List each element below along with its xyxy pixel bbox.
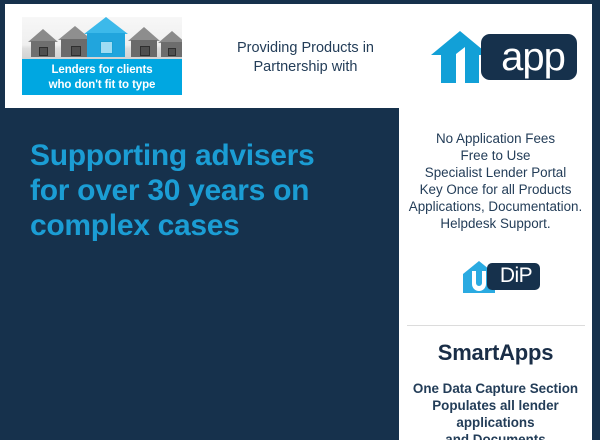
- headline-line-1: Supporting advisers: [30, 138, 370, 173]
- main-headline: Supporting advisers for over 30 years on…: [30, 138, 370, 243]
- list-item: No Application Fees: [403, 130, 588, 147]
- partnership-line-2: Partnership with: [213, 58, 398, 77]
- udip-wordmark: DiP: [492, 262, 540, 290]
- features-panel: No Application Fees Free to Use Speciali…: [399, 108, 592, 440]
- partnership-text: Providing Products in Partnership with: [213, 39, 398, 77]
- list-item: Free to Use: [403, 147, 588, 164]
- oneapp-wordmark: app: [489, 32, 577, 82]
- list-item: Key Once for all Products: [403, 181, 588, 198]
- smartapps-desc-line-4: and Documents: [399, 431, 592, 440]
- partnership-line-1: Providing Products in: [213, 39, 398, 58]
- blue-highlight-house-icon: [84, 17, 128, 57]
- udip-logo: DiP: [462, 260, 540, 294]
- brand-logo-caption: Lenders for clients who don't fit to typ…: [22, 59, 182, 95]
- grey-house-icon: [158, 31, 182, 57]
- panel-divider: [407, 325, 585, 326]
- headline-panel: Supporting advisers for over 30 years on…: [5, 108, 399, 440]
- feature-list: No Application Fees Free to Use Speciali…: [399, 108, 592, 232]
- grey-house-icon: [128, 27, 160, 57]
- list-item: Helpdesk Support.: [403, 215, 588, 232]
- headline-line-3: complex cases: [30, 208, 370, 243]
- grey-house-icon: [28, 29, 58, 57]
- banner-header: Lenders for clients who don't fit to typ…: [5, 4, 592, 108]
- list-item: Specialist Lender Portal: [403, 164, 588, 181]
- oneapp-logo: app: [429, 28, 577, 86]
- headline-line-2: for over 30 years on: [30, 173, 370, 208]
- row-of-houses-icon: [22, 17, 182, 62]
- promotional-banner: Lenders for clients who don't fit to typ…: [0, 0, 600, 440]
- brand-caption-line-2: who don't fit to type: [22, 78, 182, 93]
- smartapps-desc-line-3: applications: [399, 414, 592, 431]
- smartapps-description: One Data Capture Section Populates all l…: [399, 380, 592, 440]
- list-item: Applications, Documentation.: [403, 198, 588, 215]
- lenders-brand-logo: Lenders for clients who don't fit to typ…: [22, 17, 182, 95]
- smartapps-desc-line-1: One Data Capture Section: [399, 380, 592, 397]
- smartapps-desc-line-2: Populates all lender: [399, 397, 592, 414]
- smartapps-title: SmartApps: [399, 340, 592, 366]
- brand-caption-line-1: Lenders for clients: [22, 63, 182, 78]
